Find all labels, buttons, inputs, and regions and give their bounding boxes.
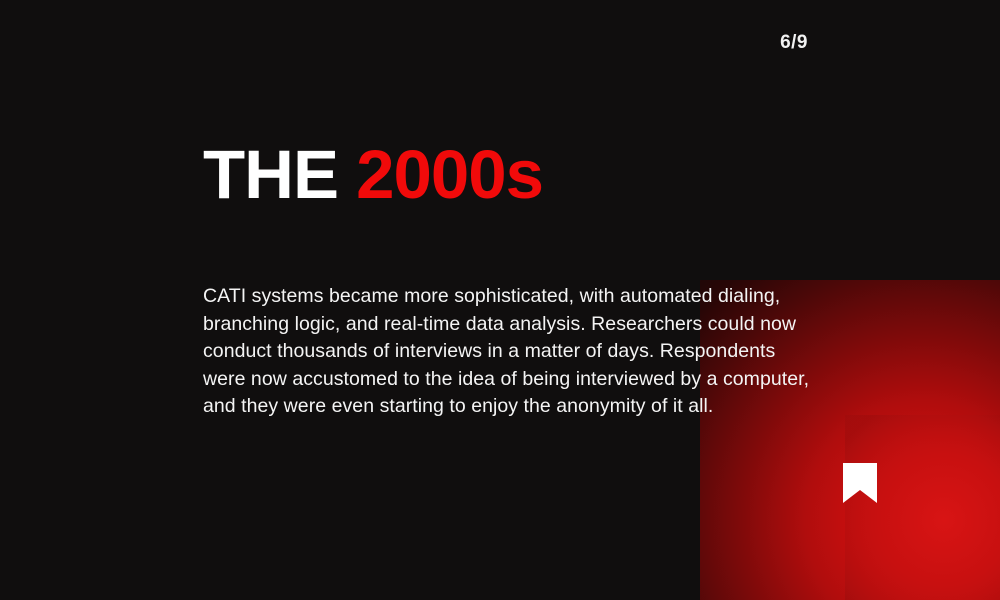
page-counter: 6/9: [780, 32, 808, 54]
page-title-accent: 2000s: [356, 136, 543, 213]
page-title: THE 2000s: [203, 140, 543, 209]
body-paragraph: CATI systems became more sophisticated, …: [203, 283, 815, 421]
red-glow-core: [845, 415, 1000, 600]
page-title-main: THE: [203, 136, 338, 213]
slide-container: 6/9 THE 2000s CATI systems became more s…: [0, 0, 1000, 600]
bookmark-icon[interactable]: [843, 463, 877, 503]
bookmark-icon-glyph: [843, 463, 877, 503]
